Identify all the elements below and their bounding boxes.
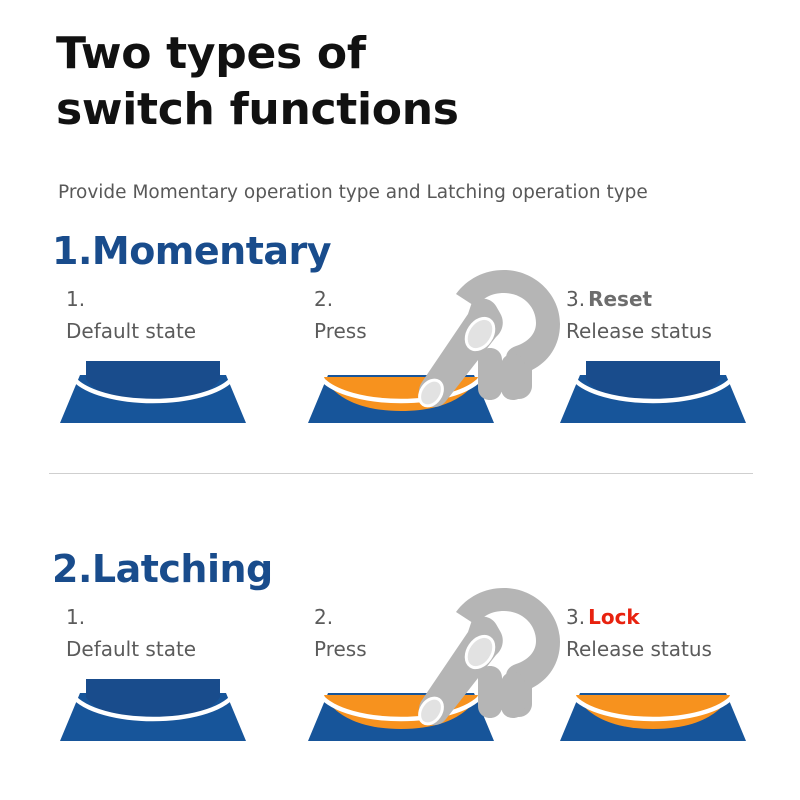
step-caption: Default state <box>66 634 196 664</box>
step-label: 1. <box>66 284 85 314</box>
steps-latching: 1.Default state2.Press3.LockRelease stat… <box>0 602 800 747</box>
step-caption: Press <box>314 316 367 346</box>
step-number: 3. <box>566 605 585 629</box>
step-momentary-2: 2.Press <box>296 284 546 429</box>
section-heading-momentary: 1.Momentary <box>52 228 331 274</box>
step-label: 2. <box>314 602 333 632</box>
switch-pressed-icon[interactable] <box>296 357 506 429</box>
step-number: 3. <box>566 287 585 311</box>
step-caption: Release status <box>566 634 712 664</box>
step-label: 3.Reset <box>566 284 652 314</box>
step-label: 3.Lock <box>566 602 640 632</box>
step-caption: Default state <box>66 316 196 346</box>
switch-pressed-icon[interactable] <box>548 675 758 747</box>
step-number: 2. <box>314 605 333 629</box>
steps-momentary: 1.Default state2.Press3.ResetRelease sta… <box>0 284 800 429</box>
step-keyword: Lock <box>588 605 640 629</box>
section-heading-latching: 2.Latching <box>52 546 273 592</box>
step-latching-2: 2.Press <box>296 602 546 747</box>
step-keyword: Reset <box>588 287 652 311</box>
step-momentary-1: 1.Default state <box>48 284 298 429</box>
step-latching-1: 1.Default state <box>48 602 298 747</box>
switch-pressed-icon[interactable] <box>296 675 506 747</box>
step-latching-3: 3.LockRelease status <box>548 602 798 747</box>
switch-released-icon[interactable] <box>548 357 758 429</box>
switch-released-icon[interactable] <box>48 357 258 429</box>
switch-released-icon[interactable] <box>48 675 258 747</box>
step-label: 2. <box>314 284 333 314</box>
step-caption: Press <box>314 634 367 664</box>
step-number: 1. <box>66 287 85 311</box>
infographic-page: Two types of switch functions Provide Mo… <box>0 0 800 800</box>
step-caption: Release status <box>566 316 712 346</box>
page-title: Two types of switch functions <box>56 26 756 138</box>
section-divider <box>49 473 753 474</box>
step-number: 1. <box>66 605 85 629</box>
step-label: 1. <box>66 602 85 632</box>
page-subtitle: Provide Momentary operation type and Lat… <box>58 180 648 206</box>
step-number: 2. <box>314 287 333 311</box>
step-momentary-3: 3.ResetRelease status <box>548 284 798 429</box>
